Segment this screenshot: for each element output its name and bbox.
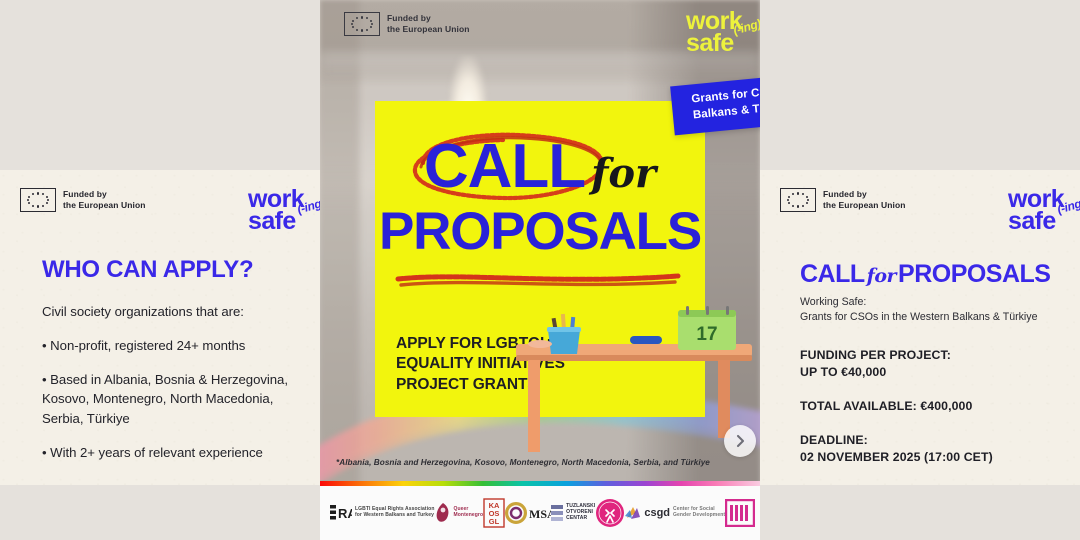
detail-funding-per-project: FUNDING PER PROJECT: UP TO €40,000: [800, 347, 1060, 381]
omsa-mark-icon: MSA: [505, 501, 551, 525]
desk-illustration: 17: [510, 300, 760, 470]
worksafe-logo: work safe (-ing): [686, 10, 742, 54]
partner-logo-izadi[interactable]: [725, 499, 755, 527]
carousel-slide-left[interactable]: Funded by the European Union work safe (…: [0, 170, 320, 485]
worksafe-word-safe: safe: [248, 210, 304, 232]
partner-logo-omsa[interactable]: MSA: [505, 501, 551, 525]
eu-funding-text-right: Funded by the European Union: [823, 189, 906, 211]
left-card-body: Civil society organizations that are: • …: [42, 302, 298, 462]
kaos-gl-mark-icon: KA OS GL: [483, 498, 505, 528]
red-underline-scribble-icon: [393, 269, 683, 291]
calendar-day-number: 17: [696, 324, 717, 345]
next-slide-button[interactable]: [724, 425, 756, 457]
right-title-for: for: [865, 265, 898, 287]
right-card-header: Funded by the European Union work safe (…: [760, 188, 1080, 222]
partner-logos-bar: RA LGBTI Equal Rights Association for We…: [320, 486, 760, 540]
csgd-sub-2: Gender Development: [673, 513, 725, 519]
left-intro-text: Civil society organizations that are:: [42, 302, 298, 321]
pencil-cup: [547, 314, 581, 354]
desk-calendar: 17: [678, 306, 736, 350]
left-bullet-1: • Non-profit, registered 24+ months: [42, 336, 298, 355]
countries-footnote: *Albania, Bosnia and Herzegovina, Kosovo…: [320, 458, 760, 467]
carousel-slide-center[interactable]: Funded by the European Union work safe (…: [320, 0, 760, 540]
svg-text:GL: GL: [489, 517, 500, 526]
slide-header: Funded by the European Union work safe (…: [320, 10, 760, 54]
eu-funding-line1: Funded by: [823, 189, 906, 200]
partner-logo-kaos-gl[interactable]: KA OS GL: [483, 498, 505, 528]
svg-text:RA: RA: [338, 506, 352, 521]
headline-proposals: PROPOSALS: [379, 205, 701, 258]
worksafe-word-safe: safe: [1008, 210, 1064, 232]
eu-funding-logo-left: Funded by the European Union: [20, 188, 146, 212]
era-mark-icon: RA: [330, 503, 352, 523]
eu-funding-logo: Funded by the European Union: [344, 12, 470, 36]
right-card-subtitle: Working Safe: Grants for CSOs in the Wes…: [800, 295, 1060, 325]
chevron-right-icon: [733, 434, 747, 448]
right-card-title: CALLforPROPOSALS: [800, 260, 1051, 289]
headline-call: CALL: [424, 136, 585, 198]
detail-deadline-value: 02 NOVEMBER 2025 (17:00 CET): [800, 449, 1060, 466]
izadi-mark-icon: [725, 499, 755, 527]
partner-logo-queer-montenegro[interactable]: Queer Montenegro: [435, 502, 484, 524]
eu-flag-icon: [780, 188, 816, 212]
partner-logo-era[interactable]: RA LGBTI Equal Rights Association for We…: [330, 503, 435, 523]
soc-circular-mark-icon: [595, 498, 625, 528]
detail-funding-value: UP TO €40,000: [800, 364, 1060, 381]
eu-funding-text-left: Funded by the European Union: [63, 189, 146, 211]
detail-total-available: TOTAL AVAILABLE: €400,000: [800, 398, 1060, 415]
left-bullet-3: • With 2+ years of relevant experience: [42, 443, 298, 462]
headline-row-1: CALL for: [375, 123, 705, 211]
partner-logo-csgd[interactable]: csgd Center for Social Gender Developmen…: [625, 504, 725, 522]
eu-funding-logo-right: Funded by the European Union: [780, 188, 906, 212]
left-card-header: Funded by the European Union work safe (…: [0, 188, 320, 222]
eu-funding-line2: the European Union: [823, 200, 906, 211]
desk-leg-left: [528, 360, 540, 452]
eu-funding-line1: Funded by: [63, 189, 146, 200]
headline-for: for: [591, 154, 656, 194]
detail-deadline: DEADLINE: 02 NOVEMBER 2025 (17:00 CET): [800, 432, 1060, 466]
partner-logo-sarajevski-otvoreni-centar[interactable]: [595, 498, 625, 528]
eu-funding-line2: the European Union: [387, 24, 470, 35]
toc-line-3: CENTAR: [566, 516, 595, 522]
worksafe-logo-left: work safe (-ing): [248, 188, 304, 232]
csgd-mark-icon: [625, 504, 641, 522]
svg-text:MSA: MSA: [529, 507, 551, 521]
eu-flag-icon: [344, 12, 380, 36]
right-title-call: CALL: [800, 260, 865, 288]
right-card-details: FUNDING PER PROJECT: UP TO €40,000 TOTAL…: [800, 347, 1060, 466]
worksafe-logo-right: work safe (-ing): [1008, 188, 1064, 232]
right-title-proposals: PROPOSALS: [898, 260, 1050, 288]
queer-montenegro-mark-icon: [435, 502, 451, 524]
detail-total-label: TOTAL AVAILABLE: €400,000: [800, 398, 1060, 415]
eu-funding-text: Funded by the European Union: [387, 13, 470, 35]
left-card-title: WHO CAN APPLY?: [42, 256, 253, 284]
eu-funding-line1: Funded by: [387, 13, 470, 24]
carousel-slide-right[interactable]: Funded by the European Union work safe (…: [760, 170, 1080, 485]
detail-deadline-label: DEADLINE:: [800, 432, 1060, 449]
headline-row-2: PROPOSALS: [375, 205, 705, 258]
partner-logo-tuzlanski-otvoreni-centar[interactable]: TUZLANSKI OTVORENI CENTAR: [551, 504, 595, 521]
desk-leg-right: [718, 360, 730, 438]
worksafe-word-safe: safe: [686, 32, 742, 54]
csgd-wordmark: csgd: [644, 507, 670, 519]
queer-label-2: Montenegro: [454, 513, 484, 519]
eu-flag-icon: [20, 188, 56, 212]
toc-mark-icon: [551, 505, 563, 522]
detail-funding-label: FUNDING PER PROJECT:: [800, 347, 1060, 364]
eu-funding-line2: the European Union: [63, 200, 146, 211]
desk-eraser: [528, 340, 552, 348]
poster-headline: CALL for PROPOSALS: [375, 123, 705, 298]
left-bullet-2: • Based in Albania, Bosnia & Herzegovina…: [42, 370, 298, 427]
right-sub-line-1: Working Safe:: [800, 295, 1060, 310]
right-sub-line-2: Grants for CSOs in the Western Balkans &…: [800, 310, 1060, 325]
blue-marker: [630, 336, 662, 344]
era-sub-2: for Western Balkans and Turkey: [355, 513, 435, 519]
